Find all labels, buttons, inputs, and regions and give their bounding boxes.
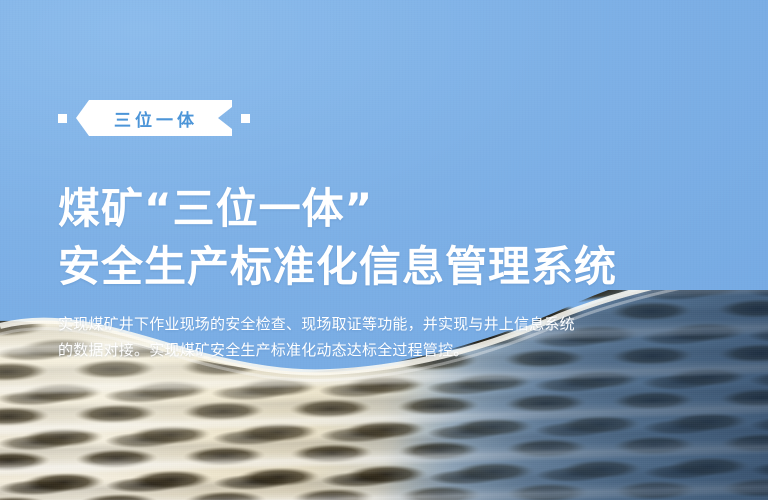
tagline-badge: 三位一体 bbox=[76, 100, 232, 136]
square-marker-right-icon bbox=[241, 114, 250, 123]
badge-row: 三位一体 bbox=[58, 100, 250, 136]
banner-content: 三位一体 煤矿“三位一体” 安全生产标准化信息管理系统 实现煤矿井下作业现场的安… bbox=[58, 0, 718, 500]
square-marker-left-icon bbox=[58, 114, 67, 123]
banner-description: 实现煤矿井下作业现场的安全检查、现场取证等功能，并实现与井上信息系统的数据对接。… bbox=[58, 311, 582, 363]
badge-label: 三位一体 bbox=[76, 100, 232, 136]
hero-banner: 三位一体 煤矿“三位一体” 安全生产标准化信息管理系统 实现煤矿井下作业现场的安… bbox=[0, 0, 768, 500]
page-title: 煤矿“三位一体” 安全生产标准化信息管理系统 bbox=[58, 180, 617, 296]
title-line-2: 安全生产标准化信息管理系统 bbox=[58, 238, 617, 296]
title-line-1: 煤矿“三位一体” bbox=[58, 180, 617, 238]
